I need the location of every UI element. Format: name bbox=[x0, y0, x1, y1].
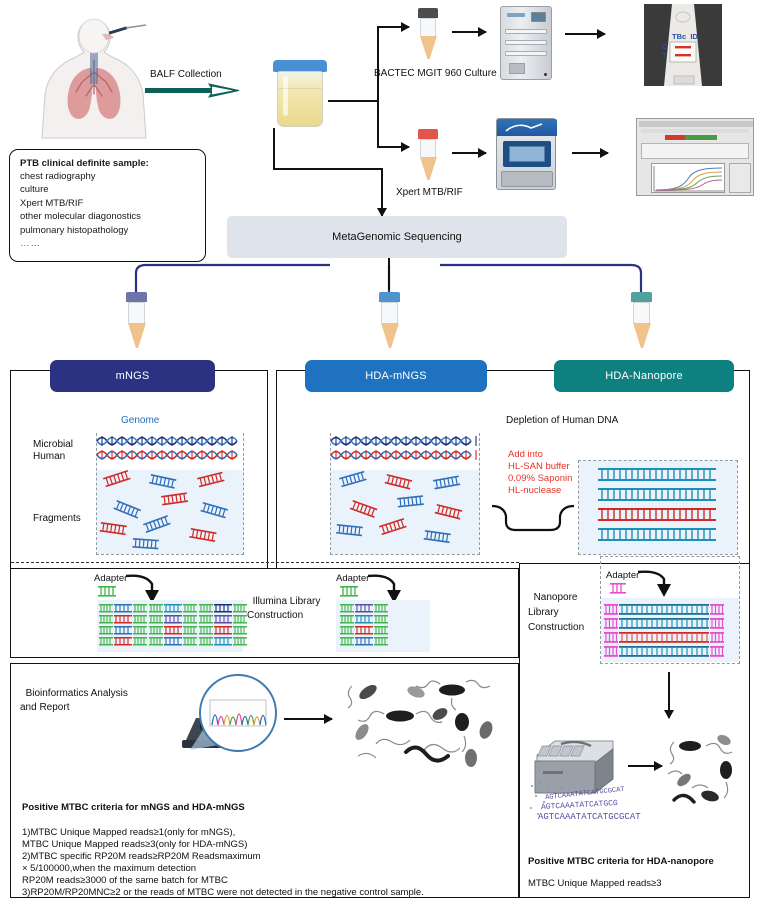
xpert-sample-tube bbox=[418, 129, 438, 179]
tube-tip bbox=[420, 36, 437, 59]
criteria-illumina-line: 3)RP20M/RP20MNC≥2 or the reads of MTBC w… bbox=[22, 887, 424, 900]
bioinformatics-label: Bioinformatics Analysis and Report bbox=[20, 672, 128, 716]
genexpert-result-screenshot bbox=[636, 118, 754, 196]
tube-tip bbox=[420, 157, 437, 180]
balf-collection-label: BALF Collection bbox=[150, 68, 222, 82]
tube-cap-icon bbox=[631, 292, 652, 302]
mngs-microbial-helix bbox=[97, 434, 243, 448]
tab-mngs-label: mNGS bbox=[116, 370, 150, 382]
criteria-illumina-heading: Positive MTBC criteria for mNGS and HDA-… bbox=[22, 802, 245, 815]
arrow-to-mgit-tube bbox=[377, 26, 409, 28]
ptb-box-item: chest radiography bbox=[20, 170, 195, 183]
human-label: Human bbox=[33, 450, 65, 464]
tube-tip bbox=[633, 323, 651, 348]
criteria-illumina-line: × 5/100000,when the maximum detection bbox=[22, 863, 196, 876]
tube-body bbox=[381, 302, 399, 324]
ptb-box-item: pulmonary histopathology bbox=[20, 224, 195, 237]
criteria-illumina-line: RP20M reads≥3000 of the same batch for M… bbox=[22, 875, 228, 888]
nanopore-library-fragments bbox=[604, 602, 736, 660]
instrument-drawer bbox=[505, 29, 547, 34]
ptb-box-item: …… bbox=[20, 237, 195, 250]
bactec-mgit-960-instrument bbox=[500, 6, 552, 80]
tube-cap-icon bbox=[379, 292, 400, 302]
cup-gloss bbox=[283, 76, 288, 116]
instrument-logo bbox=[507, 13, 525, 17]
tab-hda-nanopore[interactable]: HDA-Nanopore bbox=[554, 360, 734, 392]
arrow-to-mgs-box bbox=[381, 168, 383, 216]
tab-hda-nanopore-label: HDA-Nanopore bbox=[605, 370, 683, 382]
balf-collection-arrow bbox=[145, 83, 240, 97]
tube-cap-icon bbox=[418, 129, 438, 139]
mngs-fragment-cloud bbox=[99, 472, 241, 552]
ptb-clinical-sample-box: PTB clinical definite sample: chest radi… bbox=[9, 149, 206, 262]
cup-fill-line bbox=[278, 88, 322, 89]
result-text-field bbox=[641, 143, 749, 159]
result-status-bar bbox=[665, 135, 717, 140]
mngs-human-helix bbox=[97, 448, 243, 462]
arrow-nanopore-to-microbes bbox=[628, 765, 662, 767]
fragments-label: Fragments bbox=[33, 512, 81, 526]
illumina-library-text: Illumina Library Construction bbox=[247, 596, 320, 622]
hda-adapter-label: Adapter bbox=[336, 573, 369, 586]
mngs-section-divider bbox=[11, 562, 519, 563]
cup-to-mgs-horizontal bbox=[273, 168, 383, 170]
arrow-to-microbes bbox=[284, 718, 332, 720]
hda-adapter-icon bbox=[340, 586, 358, 597]
ptb-box-item: Xpert MTB/RIF bbox=[20, 197, 195, 210]
metagenomic-sequencing-box: MetaGenomic Sequencing bbox=[227, 216, 567, 258]
mngs-adapter-label: Adapter bbox=[94, 573, 127, 586]
genexpert-display bbox=[509, 146, 545, 162]
instrument-drawer bbox=[505, 40, 547, 45]
bronchoscopy-illustration bbox=[34, 8, 154, 143]
arrow-tube-to-mgit-instrument bbox=[452, 31, 486, 33]
chromatogram-magnifier bbox=[176, 672, 284, 758]
result-subbar bbox=[641, 129, 749, 133]
arrow-genexpert-to-result bbox=[572, 152, 608, 154]
arrow-tube-to-genexpert bbox=[452, 152, 486, 154]
instrument-vent bbox=[509, 63, 525, 74]
tbc-id-lateral-flow-photo: TBc ID C T bbox=[644, 4, 722, 86]
depletion-label: Depletion of Human DNA bbox=[506, 414, 618, 428]
cup-to-mgs-vertical bbox=[273, 128, 275, 170]
criteria-illumina-line: 1)MTBC Unique Mapped reads≥1(only for mN… bbox=[22, 827, 235, 840]
instrument-drawer bbox=[505, 51, 547, 56]
amplification-curve-plot bbox=[651, 163, 725, 193]
specimen-cup bbox=[272, 60, 328, 128]
nanopore-depleted-fragments bbox=[584, 466, 734, 550]
genexpert-logo bbox=[504, 122, 544, 133]
metagenomic-sequencing-label: MetaGenomic Sequencing bbox=[332, 231, 462, 243]
hda-nanopore-tube bbox=[631, 292, 652, 348]
criteria-illumina-line: MTBC Unique Mapped reads≥3(only for HDA-… bbox=[22, 839, 247, 852]
strip-test-label: T bbox=[662, 51, 667, 61]
hda-human-helix bbox=[331, 448, 479, 462]
reagent-line: Add into bbox=[508, 449, 543, 462]
nanopore-library-text: Nanopore Library Construction bbox=[528, 592, 584, 633]
nanopore-microbe-illustration bbox=[664, 730, 746, 808]
nanopore-adapter-label: Adapter bbox=[606, 570, 639, 583]
ptb-box-heading: PTB clinical definite sample: bbox=[20, 158, 195, 169]
hda-merge-bracket bbox=[490, 500, 576, 542]
genexpert-base bbox=[501, 171, 553, 187]
tube-tip bbox=[128, 323, 146, 348]
genexpert-instrument bbox=[496, 118, 556, 190]
arrow-to-nanopore-sequencer bbox=[668, 672, 670, 718]
strip-title-label: TBc ID bbox=[672, 32, 698, 42]
mngs-adapter-icon bbox=[98, 586, 116, 597]
illumina-library-label: Illumina Library Construction bbox=[247, 580, 320, 624]
hda-fragment-cloud bbox=[333, 472, 477, 552]
tube-cap-icon bbox=[418, 8, 438, 18]
criteria-nanopore-heading: Positive MTBC criteria for HDA-nanopore bbox=[528, 856, 714, 869]
cup-to-branch-line bbox=[328, 100, 378, 102]
hda-mngs-tube bbox=[379, 292, 400, 348]
instrument-indicator bbox=[544, 73, 547, 76]
result-toolbar bbox=[639, 121, 753, 127]
criteria-nanopore-line: MTBC Unique Mapped reads≥3 bbox=[528, 878, 662, 891]
branch-vertical-line-lower bbox=[377, 100, 379, 148]
tab-hda-mngs[interactable]: HDA-mNGS bbox=[305, 360, 487, 392]
hda-microbial-helix bbox=[331, 434, 479, 448]
bactec-culture-label: BACTEC MGIT 960 Culture bbox=[374, 67, 497, 81]
reagent-line: 0.09% Saponin bbox=[508, 473, 572, 486]
ptb-box-item: other molecular diagonostics bbox=[20, 210, 195, 223]
mgit-culture-tube bbox=[418, 8, 438, 58]
tube-tip bbox=[381, 323, 399, 348]
plot-legend bbox=[729, 163, 751, 193]
tab-hda-mngs-label: HDA-mNGS bbox=[365, 370, 427, 382]
reagent-line: HL-nuclease bbox=[508, 485, 561, 498]
mngs-library-fragments bbox=[99, 602, 241, 650]
tab-mngs[interactable]: mNGS bbox=[50, 360, 215, 392]
ptb-box-item: culture bbox=[20, 183, 195, 196]
tube-cap-icon bbox=[126, 292, 147, 302]
arrow-to-xpert-tube bbox=[377, 146, 409, 148]
bioinformatics-text: Bioinformatics Analysis and Report bbox=[20, 688, 128, 714]
tube-body bbox=[420, 139, 437, 158]
microbe-illustration bbox=[340, 678, 505, 770]
nanopore-ligation-arrow bbox=[636, 568, 684, 598]
nanopore-library-label: Nanopore Library Construction bbox=[528, 575, 584, 635]
genome-label: Genome bbox=[121, 414, 159, 428]
tube-body bbox=[128, 302, 146, 324]
xpert-label: Xpert MTB/RIF bbox=[396, 186, 463, 200]
tube-body bbox=[633, 302, 651, 324]
mngs-tube bbox=[126, 292, 147, 348]
nanopore-adapter-icon bbox=[610, 583, 626, 594]
tube-body bbox=[420, 18, 437, 37]
criteria-illumina-line: 2)MTBC specific RP20M reads≥RP20M Readsm… bbox=[22, 851, 261, 864]
mgs-center-stub bbox=[388, 258, 390, 290]
arrow-mgit-to-strip bbox=[565, 33, 605, 35]
instrument-screen bbox=[531, 12, 546, 22]
hda-library-fragments bbox=[340, 602, 430, 650]
reagent-line: HL-SAN buffer bbox=[508, 461, 570, 474]
read-dust-particles bbox=[528, 780, 608, 822]
